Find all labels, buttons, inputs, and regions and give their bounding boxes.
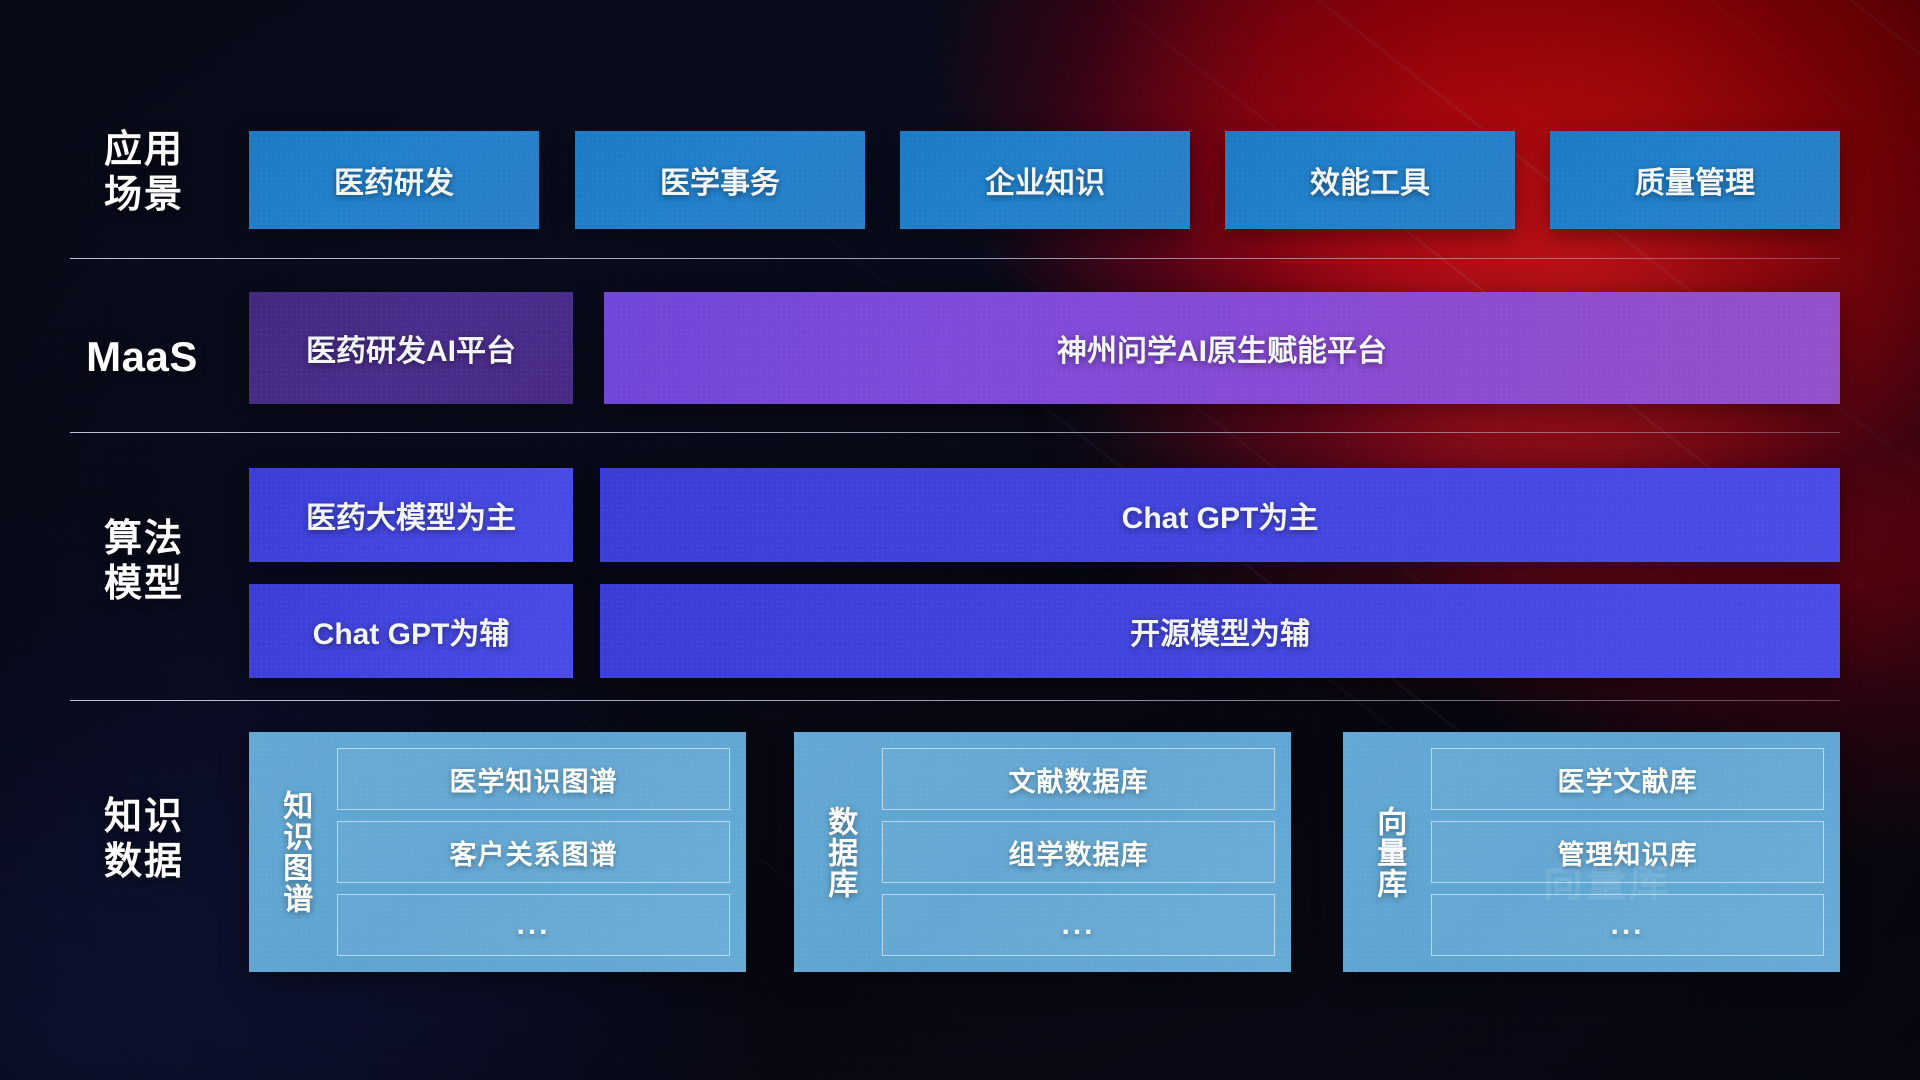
row-label-application: 应用 场景 <box>84 128 204 218</box>
knowledge-group-graph[interactable]: 知识图谱 医学知识图谱 客户关系图谱 ... <box>249 732 746 972</box>
knowledge-item-vector-0[interactable]: 医学文献库 <box>1431 748 1824 810</box>
maas-card-main-platform-label: 神州问学AI原生赋能平台 <box>1057 326 1387 370</box>
knowledge-item-graph-0[interactable]: 医学知识图谱 <box>337 748 730 810</box>
knowledge-item-graph-2[interactable]: ... <box>337 894 730 956</box>
maas-card-platform[interactable]: 医药研发AI平台 <box>249 292 573 404</box>
maas-card-main-platform[interactable]: 神州问学AI原生赋能平台 <box>604 292 1840 404</box>
row-label-maas-text: MaaS <box>72 332 212 382</box>
algo-card-secondary-left-label: Chat GPT为辅 <box>313 609 510 653</box>
row-label-algorithm: 算法 模型 <box>84 517 204 607</box>
knowledge-item-database-0[interactable]: 文献数据库 <box>882 748 1275 810</box>
algo-card-primary-right-label: Chat GPT为主 <box>1122 493 1319 537</box>
algo-card-secondary-right-label: 开源模型为辅 <box>1130 609 1310 653</box>
knowledge-group-database-title: 数据库 <box>810 748 868 956</box>
algo-card-primary-left-label: 医药大模型为主 <box>306 493 516 537</box>
algo-card-secondary-left[interactable]: Chat GPT为辅 <box>249 584 573 678</box>
knowledge-item-database-2[interactable]: ... <box>882 894 1275 956</box>
app-card-0[interactable]: 医药研发 <box>249 131 539 229</box>
app-card-4-label: 质量管理 <box>1635 158 1755 202</box>
row-label-maas: MaaS <box>72 332 212 382</box>
knowledge-item-vector-2[interactable]: ... <box>1431 894 1824 956</box>
knowledge-item-vector-1[interactable]: 管理知识库 <box>1431 821 1824 883</box>
divider-application-maas <box>70 258 1840 259</box>
app-card-0-label: 医药研发 <box>334 158 454 202</box>
row-label-algorithm-line1: 算法 <box>84 517 204 562</box>
maas-card-platform-label: 医药研发AI平台 <box>306 326 516 370</box>
knowledge-group-vector-items: 医学文献库 管理知识库 ... <box>1431 748 1824 956</box>
algo-card-primary-right[interactable]: Chat GPT为主 <box>600 468 1840 562</box>
divider-maas-algorithm <box>70 432 1840 433</box>
row-label-knowledge-line1: 知识 <box>84 795 204 840</box>
knowledge-group-graph-title: 知识图谱 <box>265 748 323 956</box>
knowledge-group-vector-title: 向量库 <box>1359 748 1417 956</box>
row-label-knowledge-line2: 数据 <box>84 840 204 885</box>
knowledge-group-vector[interactable]: 向量库 向量库 医学文献库 管理知识库 ... <box>1343 732 1840 972</box>
knowledge-group-graph-items: 医学知识图谱 客户关系图谱 ... <box>337 748 730 956</box>
app-card-1-label: 医学事务 <box>660 158 780 202</box>
app-card-4[interactable]: 质量管理 <box>1550 131 1840 229</box>
row-label-application-line1: 应用 <box>84 128 204 173</box>
row-label-application-line2: 场景 <box>84 173 204 218</box>
knowledge-group-database[interactable]: 数据库 文献数据库 组学数据库 ... <box>794 732 1291 972</box>
app-card-3[interactable]: 效能工具 <box>1225 131 1515 229</box>
row-label-knowledge: 知识 数据 <box>84 795 204 885</box>
app-card-2-label: 企业知识 <box>985 158 1105 202</box>
row-label-algorithm-line2: 模型 <box>84 562 204 607</box>
algo-card-primary-left[interactable]: 医药大模型为主 <box>249 468 573 562</box>
app-card-2[interactable]: 企业知识 <box>900 131 1190 229</box>
algo-card-secondary-right[interactable]: 开源模型为辅 <box>600 584 1840 678</box>
knowledge-item-database-1[interactable]: 组学数据库 <box>882 821 1275 883</box>
knowledge-item-graph-1[interactable]: 客户关系图谱 <box>337 821 730 883</box>
app-card-1[interactable]: 医学事务 <box>575 131 865 229</box>
divider-algorithm-knowledge <box>70 700 1840 701</box>
architecture-diagram: 应用 场景 医药研发 医学事务 企业知识 效能工具 质量管理 MaaS 医药研发… <box>0 0 1920 1080</box>
app-card-3-label: 效能工具 <box>1310 158 1430 202</box>
knowledge-group-database-items: 文献数据库 组学数据库 ... <box>882 748 1275 956</box>
